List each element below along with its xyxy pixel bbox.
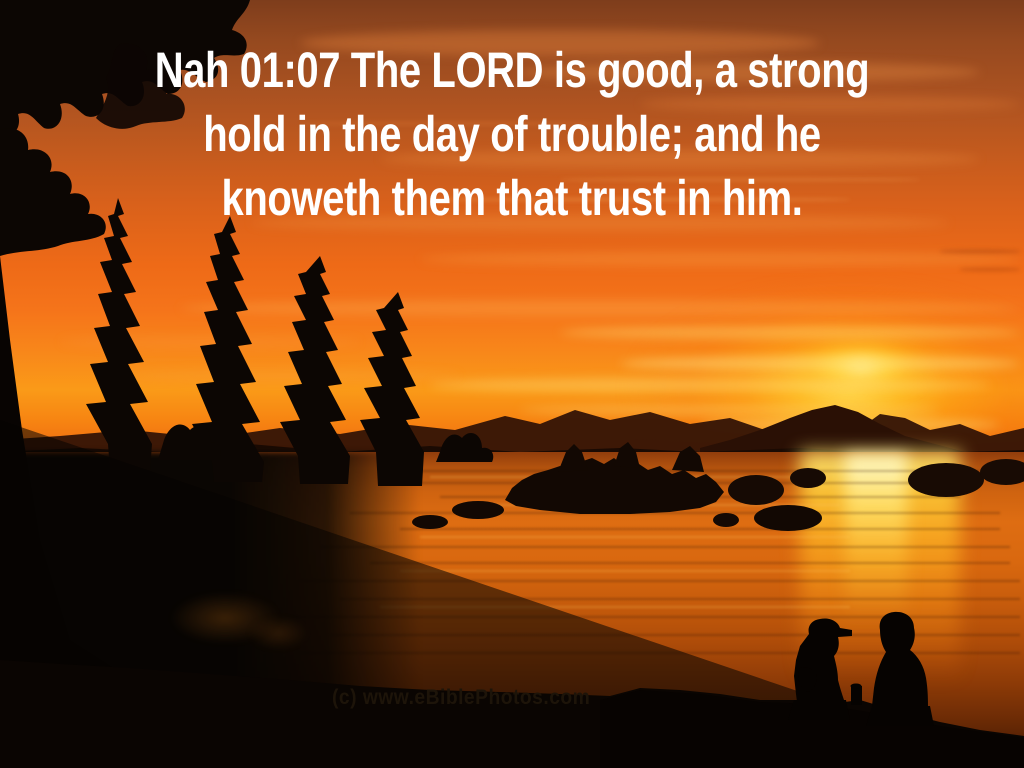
verse-line-1: Nah 01:07 The LORD is good, a strong	[102, 38, 921, 102]
verse-line-2: hold in the day of trouble; and he	[102, 102, 921, 166]
copyright-watermark: (c) www.eBiblePhotos.com	[332, 686, 590, 710]
verse-text-overlay: Nah 01:07 The LORD is good, a strong hol…	[102, 38, 921, 230]
person-left-silhouette	[788, 618, 852, 720]
verse-line-3: knoweth them that trust in him.	[102, 166, 921, 230]
person-right-silhouette	[866, 612, 934, 726]
scripture-image: Nah 01:07 The LORD is good, a strong hol…	[0, 0, 1024, 768]
bottle-silhouette	[851, 686, 862, 705]
